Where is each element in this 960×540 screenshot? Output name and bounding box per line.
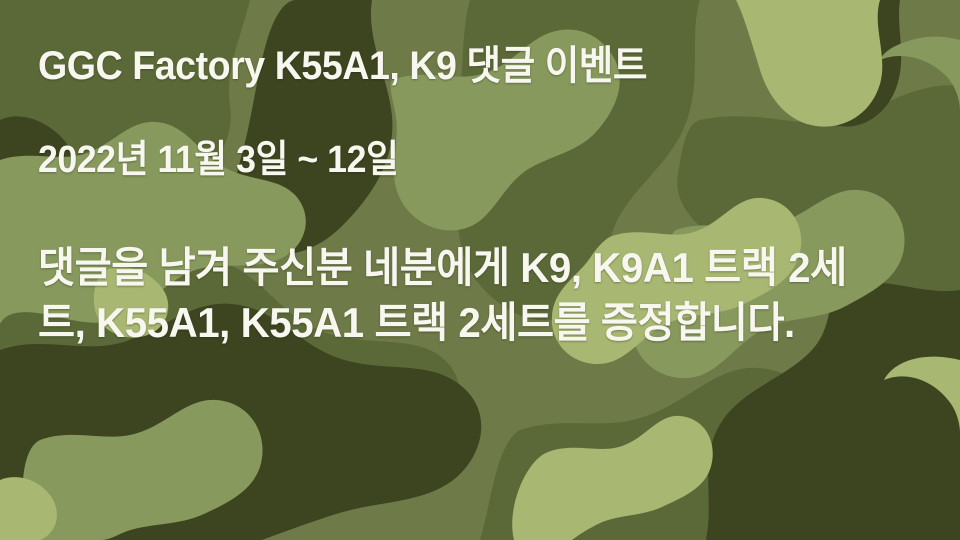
banner-date-range: 2022년 11월 3일 ~ 12일 [38, 140, 867, 182]
event-banner: GGC Factory K55A1, K9 댓글 이벤트 2022년 11월 3… [0, 0, 960, 540]
banner-text-layer: GGC Factory K55A1, K9 댓글 이벤트 2022년 11월 3… [0, 0, 960, 540]
banner-body-text: 댓글을 남겨 주신분 네분에게 K9, K9A1 트랙 2세트, K55A1, … [38, 240, 885, 351]
banner-title: GGC Factory K55A1, K9 댓글 이벤트 [38, 44, 867, 88]
